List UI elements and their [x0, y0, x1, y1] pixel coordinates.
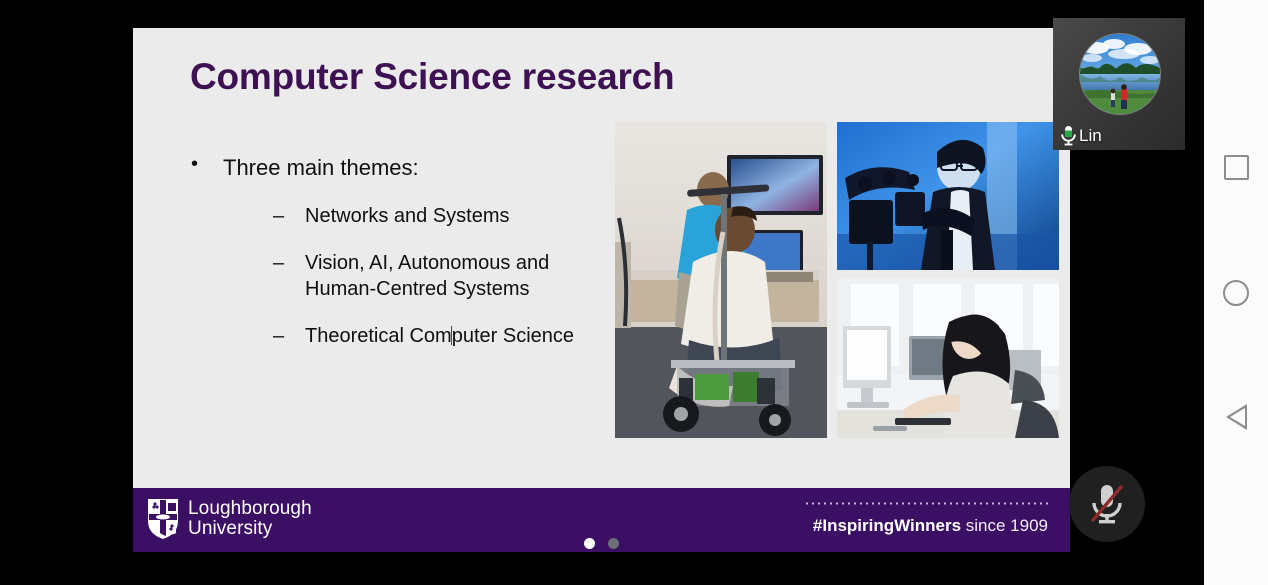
participant-video-tile[interactable]: Lin — [1053, 18, 1185, 150]
brand-line-1: Loughborough — [188, 499, 312, 519]
microphone-muted-icon — [1088, 482, 1126, 526]
circle-home-icon — [1223, 280, 1249, 306]
bullet-text: Three main themes: — [223, 155, 419, 180]
page-indicator-dots[interactable] — [133, 538, 1070, 549]
bullet-level2: – Networks and Systems — [273, 204, 623, 230]
shield-crest-icon — [147, 498, 179, 540]
bullet-level2: – Vision, AI, Autonomous and Human-Centr… — [273, 251, 623, 302]
participant-name: Lin — [1079, 126, 1102, 146]
triangle-back-icon — [1226, 404, 1247, 430]
bullet-level1: • Three main themes: – Networks and Syst… — [183, 154, 623, 350]
android-navigation-bar — [1204, 0, 1268, 585]
sub-bullet-list: – Networks and Systems – Vision, AI, Aut… — [273, 204, 623, 350]
brand-line-2: University — [188, 519, 312, 539]
page-dot-1[interactable] — [584, 538, 595, 549]
recents-button[interactable] — [1204, 135, 1268, 199]
slide-footer: Loughborough University #InspiringWinner… — [133, 488, 1070, 552]
bullet-level2: –Theoretical Computer Science — [273, 324, 623, 350]
sub-bullet-text-before-caret: Theoretical Com — [305, 325, 452, 347]
tagline-since: since 1909 — [961, 516, 1048, 535]
motion-capture-photo — [837, 122, 1059, 270]
sub-bullet-marker: – — [273, 204, 284, 229]
tagline-hashtag: #InspiringWinners — [813, 516, 961, 535]
brand-text: Loughborough University — [188, 499, 312, 540]
microphone-on-icon — [1060, 125, 1077, 146]
sub-bullet-marker: – — [273, 251, 284, 276]
back-button[interactable] — [1204, 385, 1268, 449]
sub-bullet-text: Vision, AI, Autonomous and Human-Centred… — [305, 252, 549, 300]
participant-badge: Lin — [1060, 125, 1102, 146]
office-computing-photo — [837, 278, 1059, 438]
sub-bullet-marker: – — [273, 324, 284, 349]
university-brand: Loughborough University — [147, 498, 312, 540]
sub-bullet-text-after-caret: puter Science — [452, 325, 574, 347]
tagline-text: #InspiringWinners since 1909 — [804, 516, 1048, 536]
avatar — [1080, 34, 1160, 114]
robotics-lab-photo — [615, 122, 827, 438]
footer-tagline: #InspiringWinners since 1909 — [804, 502, 1048, 536]
bullet-marker: • — [191, 152, 198, 177]
presentation-slide[interactable]: Computer Science research • Three main t… — [133, 28, 1070, 552]
sub-bullet-text: Networks and Systems — [305, 205, 510, 227]
dotted-rule — [804, 502, 1048, 505]
home-button[interactable] — [1204, 261, 1268, 325]
slide-bullet-list: • Three main themes: – Networks and Syst… — [183, 154, 623, 372]
square-recents-icon — [1224, 155, 1249, 180]
phone-screen: Computer Science research • Three main t… — [0, 0, 1268, 585]
page-dot-2[interactable] — [608, 538, 619, 549]
mute-toggle-button[interactable] — [1069, 466, 1145, 542]
page-title: Computer Science research — [190, 56, 674, 98]
